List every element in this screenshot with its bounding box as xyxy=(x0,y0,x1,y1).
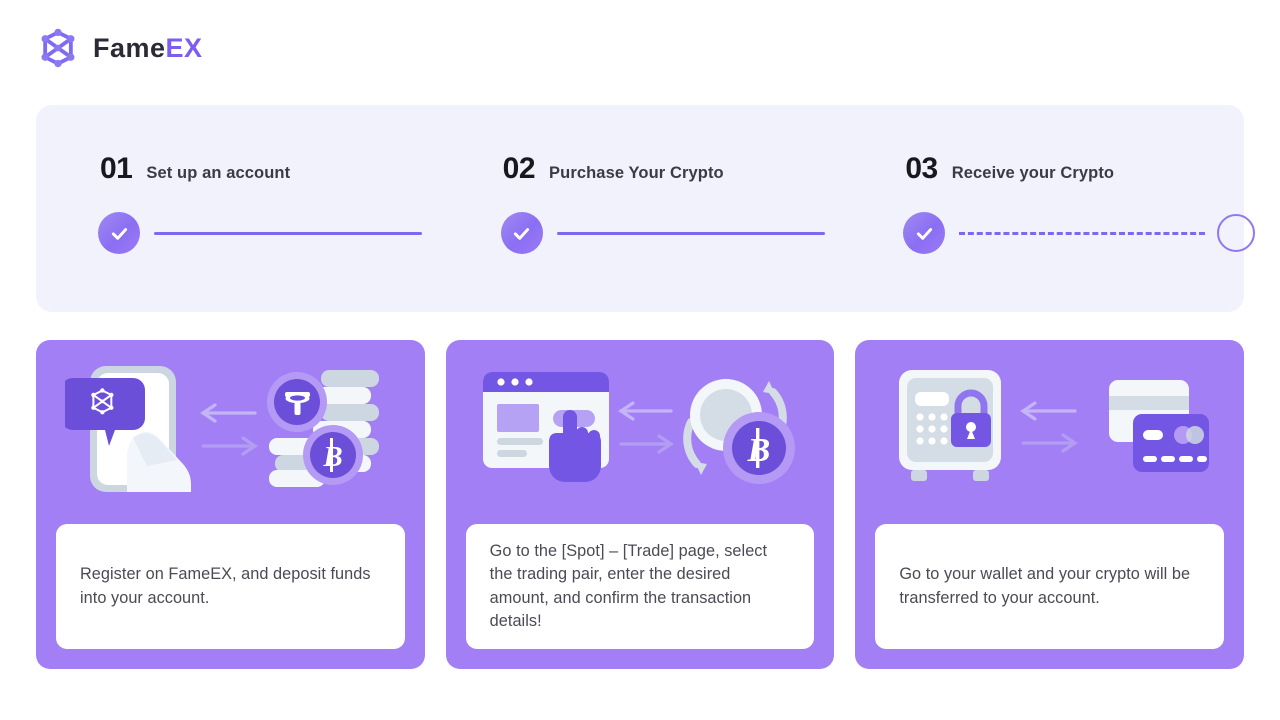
step-01[interactable]: 01 Set up an account xyxy=(36,105,439,312)
brand-name-primary: Fame xyxy=(93,33,166,63)
step-02-track xyxy=(501,210,831,256)
step-03-connector-dashed-line xyxy=(959,232,1205,235)
fameex-hexagon-network-logo-icon xyxy=(36,26,80,70)
step-03[interactable]: 03 Receive your Crypto xyxy=(841,105,1244,312)
card-step-03-text: Go to your wallet and your crypto will b… xyxy=(899,563,1200,609)
step-02-head: 02 Purchase Your Crypto xyxy=(503,154,842,188)
step-01-connector-line xyxy=(154,232,422,235)
step-02-title: Purchase Your Crypto xyxy=(549,165,724,182)
card-step-01-note: Register on FameEX, and deposit funds in… xyxy=(56,524,405,649)
step-01-track xyxy=(98,210,428,256)
browser-click-to-crypto-exchange-illustration: B xyxy=(446,340,835,518)
steps-detail-cards: B Register on FameEX, and deposit funds … xyxy=(36,340,1244,669)
steps-progress-banner: 01 Set up an account 02 Purchase Your xyxy=(36,105,1244,312)
card-step-03-note: Go to your wallet and your crypto will b… xyxy=(875,524,1224,649)
empty-circle-icon xyxy=(1217,214,1255,252)
card-step-02-note: Go to the [Spot] – [Trade] page, select … xyxy=(466,524,815,649)
brand-name-accent: EX xyxy=(166,33,203,63)
step-03-head: 03 Receive your Crypto xyxy=(905,154,1244,188)
step-02[interactable]: 02 Purchase Your Crypto xyxy=(439,105,842,312)
how-to-buy-crypto-infographic: FameEX 01 Set up an account xyxy=(0,0,1280,720)
step-02-connector-line xyxy=(557,232,825,235)
check-circle-icon xyxy=(903,212,945,254)
check-circle-icon xyxy=(98,212,140,254)
brand-name: FameEX xyxy=(93,35,203,62)
card-step-01-text: Register on FameEX, and deposit funds in… xyxy=(80,563,381,609)
step-01-number: 01 xyxy=(100,154,132,184)
phone-chat-logo-to-coin-stack-illustration: B xyxy=(36,340,425,518)
card-step-02: B Go to the [Spot] – [Trade] page, selec… xyxy=(446,340,835,669)
steps-row: 01 Set up an account 02 Purchase Your xyxy=(36,105,1244,312)
step-01-title: Set up an account xyxy=(146,165,290,182)
brand-logo[interactable]: FameEX xyxy=(36,26,203,70)
card-step-01: B Register on FameEX, and deposit funds … xyxy=(36,340,425,669)
step-03-title: Receive your Crypto xyxy=(952,165,1114,182)
card-step-03: Go to your wallet and your crypto will b… xyxy=(855,340,1244,669)
step-03-number: 03 xyxy=(905,154,937,184)
step-03-track xyxy=(903,210,1255,256)
safe-vault-to-payment-cards-illustration xyxy=(855,340,1244,518)
card-step-02-text: Go to the [Spot] – [Trade] page, select … xyxy=(490,540,791,633)
check-circle-icon xyxy=(501,212,543,254)
step-02-number: 02 xyxy=(503,154,535,184)
step-01-head: 01 Set up an account xyxy=(100,154,439,188)
